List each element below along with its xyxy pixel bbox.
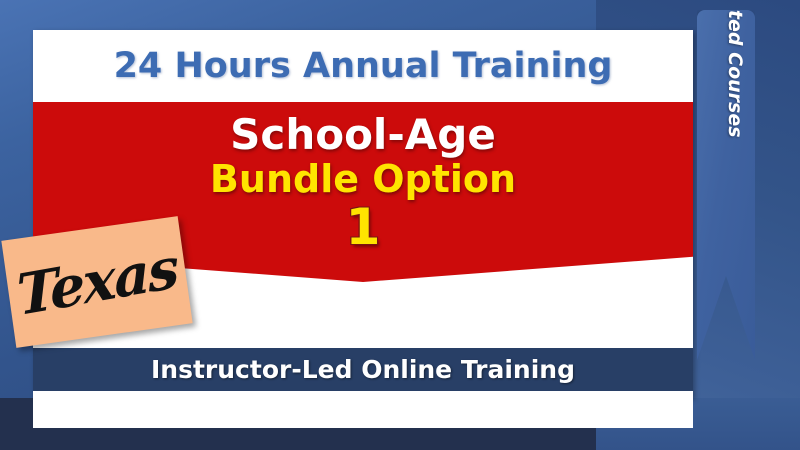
delivery-mode-band: Instructor-Led Online Training [33, 348, 693, 391]
card-bottom-white-strip [33, 391, 693, 428]
ribbon-line-1: Updated Courses [724, 10, 744, 138]
poster-canvas: 24 Hours Annual Training School-Age Bund… [0, 0, 800, 450]
course-subheadline: Bundle Option [210, 160, 516, 200]
option-number: 1 [346, 202, 381, 252]
texas-badge-label: Texas [15, 240, 179, 324]
title-strip: 24 Hours Annual Training [33, 30, 693, 102]
poster-card: 24 Hours Annual Training School-Age Bund… [33, 30, 693, 398]
ribbon-text-rotator: Updated Courses 2026 [697, 10, 755, 68]
course-headline: School-Age [230, 114, 496, 156]
delivery-mode-text: Instructor-Led Online Training [151, 355, 575, 384]
page-title: 24 Hours Annual Training [114, 46, 613, 86]
ribbon-text-block: Updated Courses 2026 [697, 10, 755, 138]
